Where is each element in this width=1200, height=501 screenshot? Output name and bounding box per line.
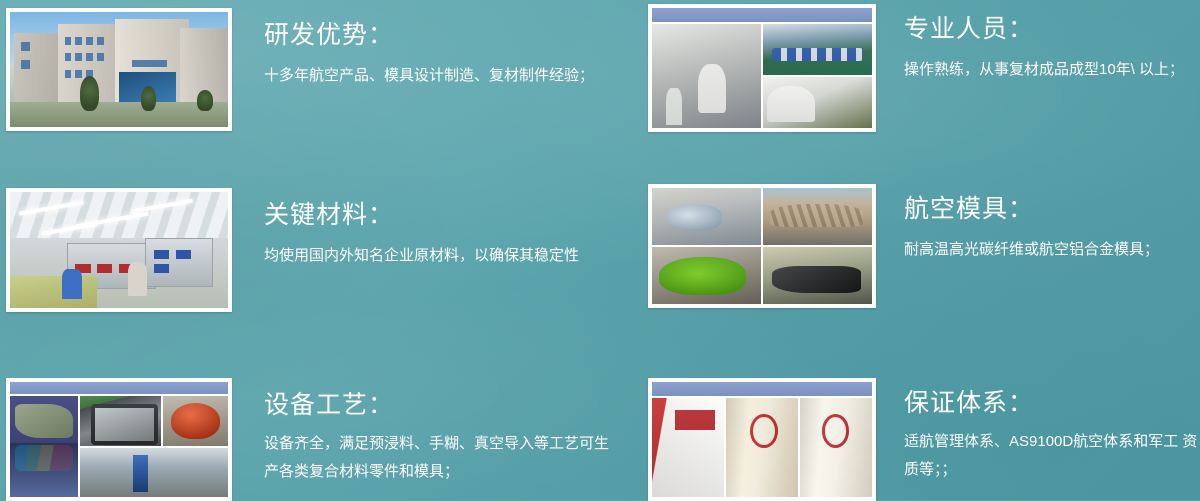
certificates-photo — [648, 378, 876, 501]
feature-title: 设备工艺： — [264, 392, 620, 420]
feature-description: 适航管理体系、AS9100D航空体系和军工 资质等；； — [904, 428, 1200, 484]
feature-text-aviation-molds: 航空模具： 耐高温高光碳纤维或航空铝合金模具； — [876, 184, 1200, 264]
feature-description: 耐高温高光碳纤维或航空铝合金模具； — [904, 236, 1200, 264]
feature-title: 保证体系： — [904, 390, 1200, 418]
office-building-photo — [6, 8, 232, 131]
feature-showcase-page: 研发优势： 十多年航空产品、模具设计制造、复材制件经验； 专业人员： 操作熟练，… — [0, 0, 1200, 500]
feature-title: 航空模具： — [904, 196, 1200, 224]
feature-grid: 研发优势： 十多年航空产品、模具设计制造、复材制件经验； 专业人员： 操作熟练，… — [0, 0, 1200, 500]
feature-card-aviation-molds: 航空模具： 耐高温高光碳纤维或航空铝合金模具； — [620, 180, 1200, 360]
feature-card-professional-staff: 专业人员： 操作熟练，从事复材成品成型10年\ 以上； — [620, 0, 1200, 180]
feature-card-key-materials: 关键材料： 均使用国内外知名企业原材料，以确保其稳定性 — [0, 180, 620, 360]
feature-card-equipment-process: 设备工艺： 设备齐全，满足预浸料、手糊、真空导入等工艺可生产各类复合材料零件和模… — [0, 360, 620, 500]
feature-text-assurance-system: 保证体系： 适航管理体系、AS9100D航空体系和军工 资质等；； — [876, 378, 1200, 484]
feature-card-rd-advantage: 研发优势： 十多年航空产品、模具设计制造、复材制件经验； — [0, 0, 620, 180]
feature-description: 操作熟练，从事复材成品成型10年\ 以上； — [904, 56, 1200, 84]
feature-text-rd-advantage: 研发优势： 十多年航空产品、模具设计制造、复材制件经验； — [232, 8, 620, 90]
feature-card-assurance-system: 保证体系： 适航管理体系、AS9100D航空体系和军工 资质等；； — [620, 360, 1200, 500]
feature-description: 均使用国内外知名企业原材料，以确保其稳定性 — [264, 242, 620, 270]
materials-warehouse-photo — [6, 188, 232, 312]
staff-collage-photo — [648, 4, 876, 132]
feature-text-professional-staff: 专业人员： 操作熟练，从事复材成品成型10年\ 以上； — [876, 4, 1200, 84]
feature-text-key-materials: 关键材料： 均使用国内外知名企业原材料，以确保其稳定性 — [232, 188, 620, 270]
feature-title: 研发优势： — [264, 22, 620, 50]
feature-title: 关键材料： — [264, 202, 620, 230]
feature-text-equipment-process: 设备工艺： 设备齐全，满足预浸料、手糊、真空导入等工艺可生产各类复合材料零件和模… — [232, 378, 620, 486]
feature-description: 设备齐全，满足预浸料、手糊、真空导入等工艺可生产各类复合材料零件和模具； — [264, 430, 620, 486]
molds-collage-photo — [648, 184, 876, 308]
feature-title: 专业人员： — [904, 16, 1200, 44]
feature-description: 十多年航空产品、模具设计制造、复材制件经验； — [264, 62, 620, 90]
equipment-collage-photo — [6, 378, 232, 501]
